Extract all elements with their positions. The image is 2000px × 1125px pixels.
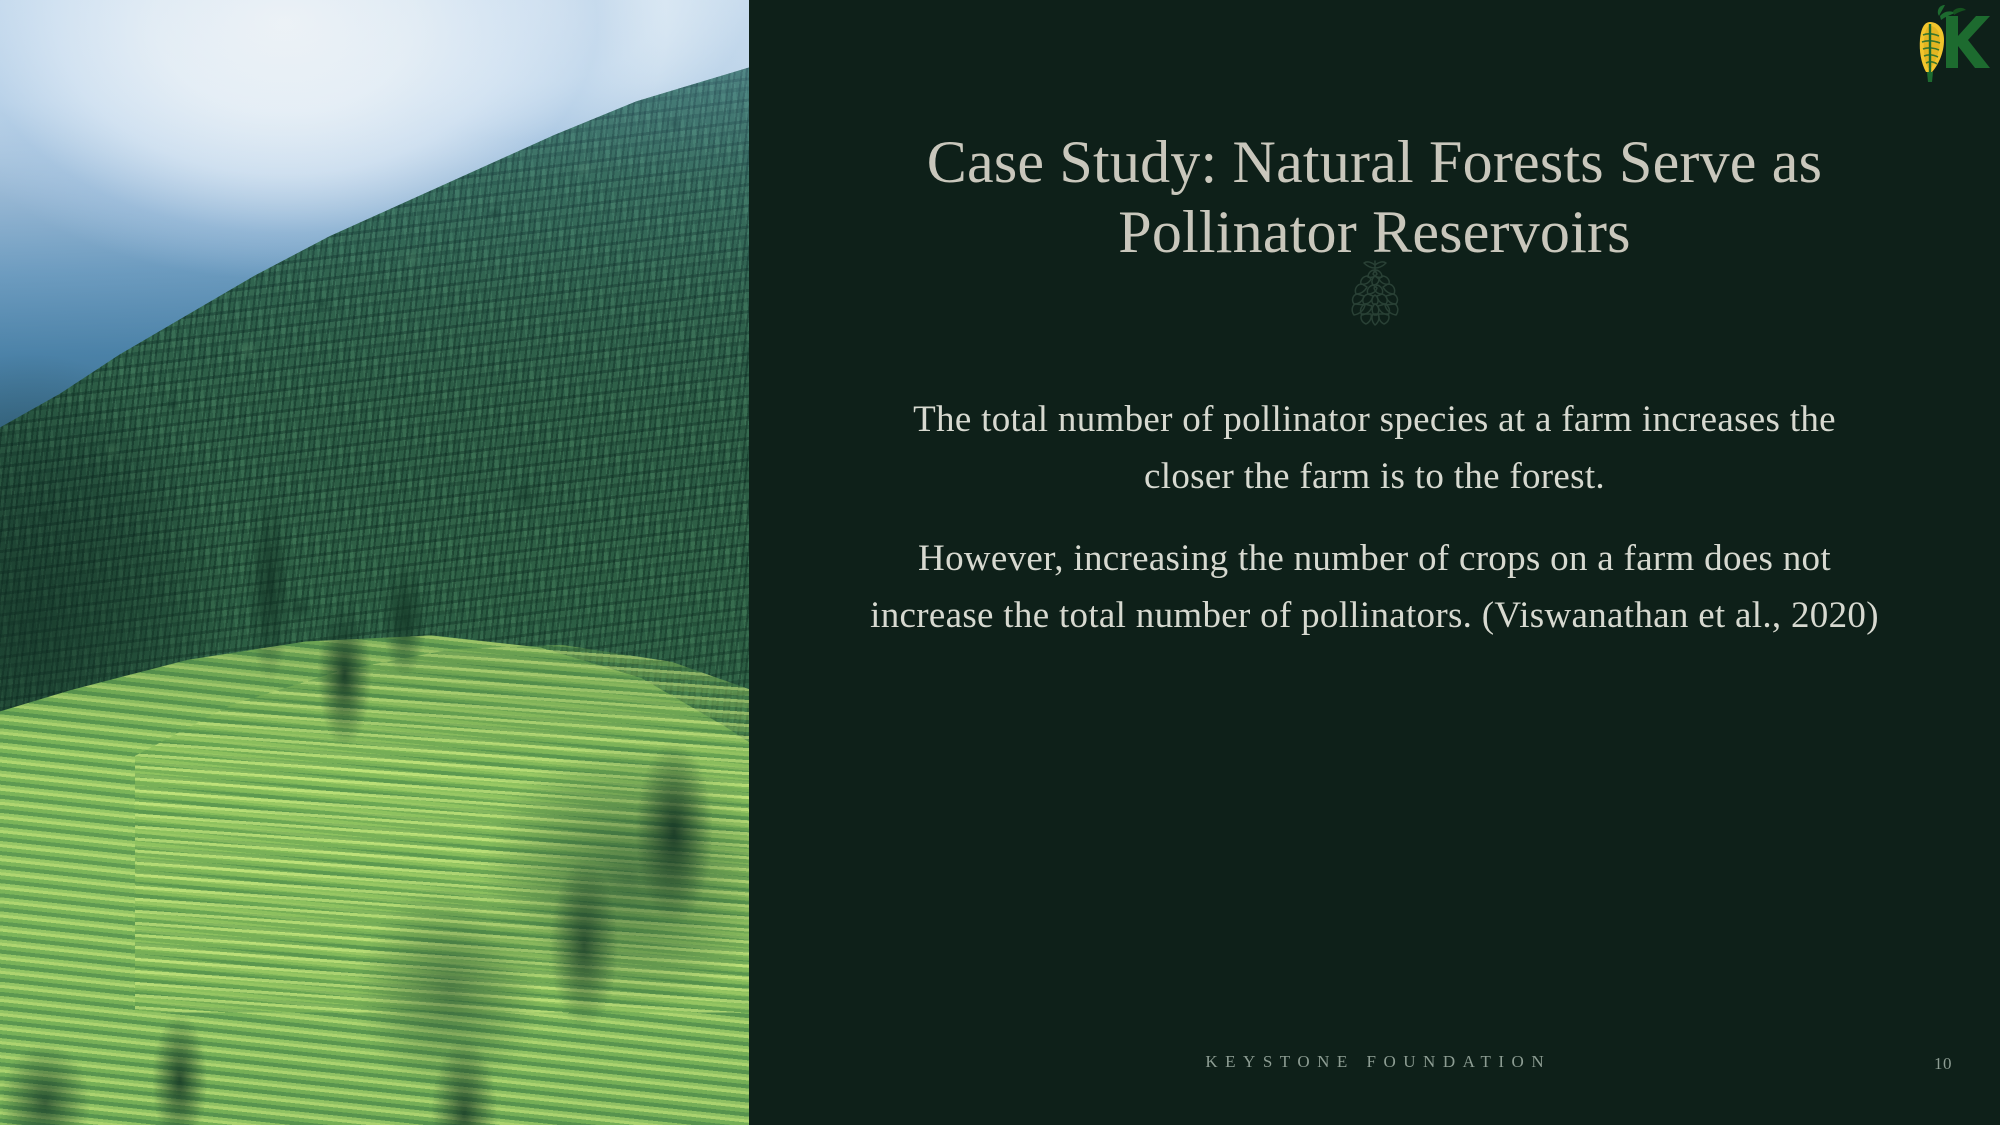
body-paragraph-2: However, increasing the number of crops … — [867, 531, 1882, 644]
keystone-foundation-logo — [1910, 2, 1992, 82]
pinecone-ornament — [1344, 256, 1406, 330]
photo-color-tone-layer — [0, 0, 749, 1125]
slide-title: Case Study: Natural Forests Serve as Pol… — [749, 128, 2000, 267]
page-number: 10 — [1934, 1054, 1952, 1074]
presentation-slide: Case Study: Natural Forests Serve as Pol… — [0, 0, 2000, 1125]
forest-and-terraced-farm-photo — [0, 0, 749, 1125]
slide-content-panel: Case Study: Natural Forests Serve as Pol… — [749, 0, 2000, 1125]
body-paragraph-1: The total number of pollinator species a… — [867, 392, 1882, 505]
footer-brand-label: KEYSTONE FOUNDATION — [749, 1052, 2000, 1072]
slide-body-text: The total number of pollinator species a… — [867, 392, 1882, 644]
